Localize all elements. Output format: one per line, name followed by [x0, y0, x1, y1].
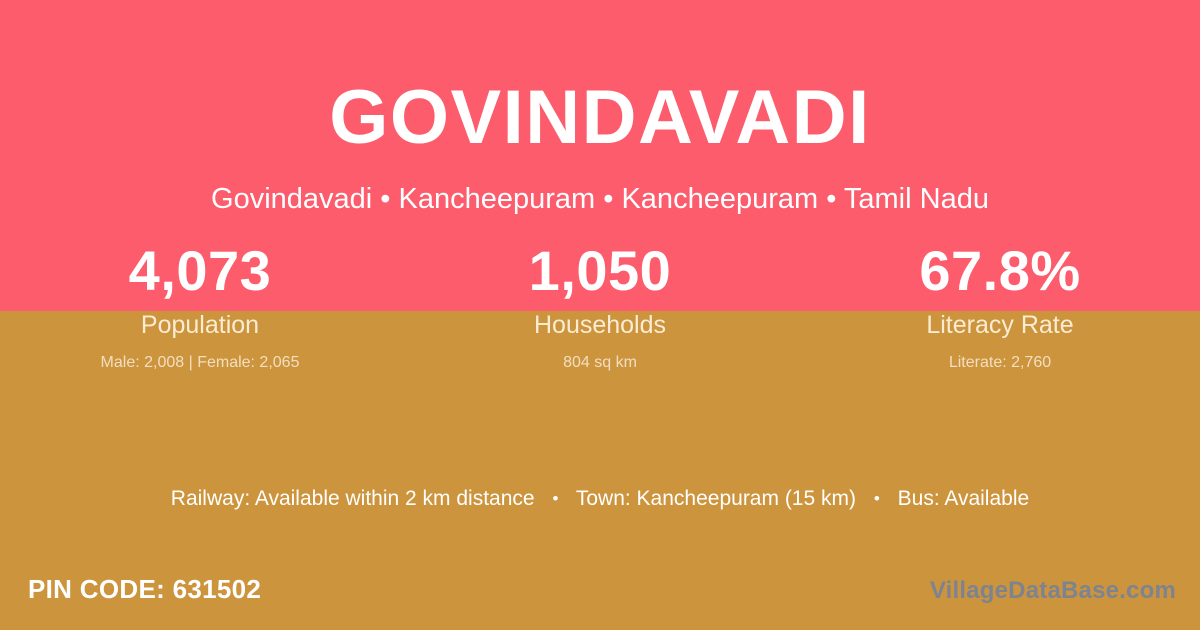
page-title: GOVINDAVADI	[0, 76, 1200, 160]
stat-label: Population	[0, 310, 400, 340]
facilities-line: Railway: Available within 2 km distance …	[0, 485, 1200, 513]
facility-town: Town: Kancheepuram (15 km)	[576, 487, 856, 510]
facility-bus: Bus: Available	[898, 487, 1030, 510]
card-footer: PIN CODE: 631502 VillageDataBase.com	[0, 572, 1200, 617]
facility-railway: Railway: Available within 2 km distance	[171, 487, 535, 510]
bullet-separator-icon: •	[862, 485, 892, 513]
stat-population: 4,073 Population Male: 2,008 | Female: 2…	[0, 240, 400, 374]
site-brand-logo: VillageDataBase.com	[930, 575, 1176, 607]
stat-value: 1,050	[400, 240, 800, 306]
stats-row: 4,073 Population Male: 2,008 | Female: 2…	[0, 240, 1200, 374]
stat-value: 67.8%	[800, 240, 1200, 306]
stat-label: Literacy Rate	[800, 310, 1200, 340]
breadcrumb: Govindavadi • Kancheepuram • Kancheepura…	[0, 181, 1200, 217]
stat-sublabel: 804 sq km	[400, 352, 800, 374]
stat-value: 4,073	[0, 240, 400, 306]
stat-sublabel: Literate: 2,760	[800, 352, 1200, 374]
stat-label: Households	[400, 310, 800, 340]
bullet-separator-icon: •	[540, 485, 570, 513]
stat-literacy-rate: 67.8% Literacy Rate Literate: 2,760	[800, 240, 1200, 374]
stat-sublabel: Male: 2,008 | Female: 2,065	[0, 352, 400, 374]
pin-code-label: PIN CODE: 631502	[28, 572, 261, 606]
village-info-card: GOVINDAVADI Govindavadi • Kancheepuram •…	[0, 0, 1200, 630]
stat-households: 1,050 Households 804 sq km	[400, 240, 800, 374]
